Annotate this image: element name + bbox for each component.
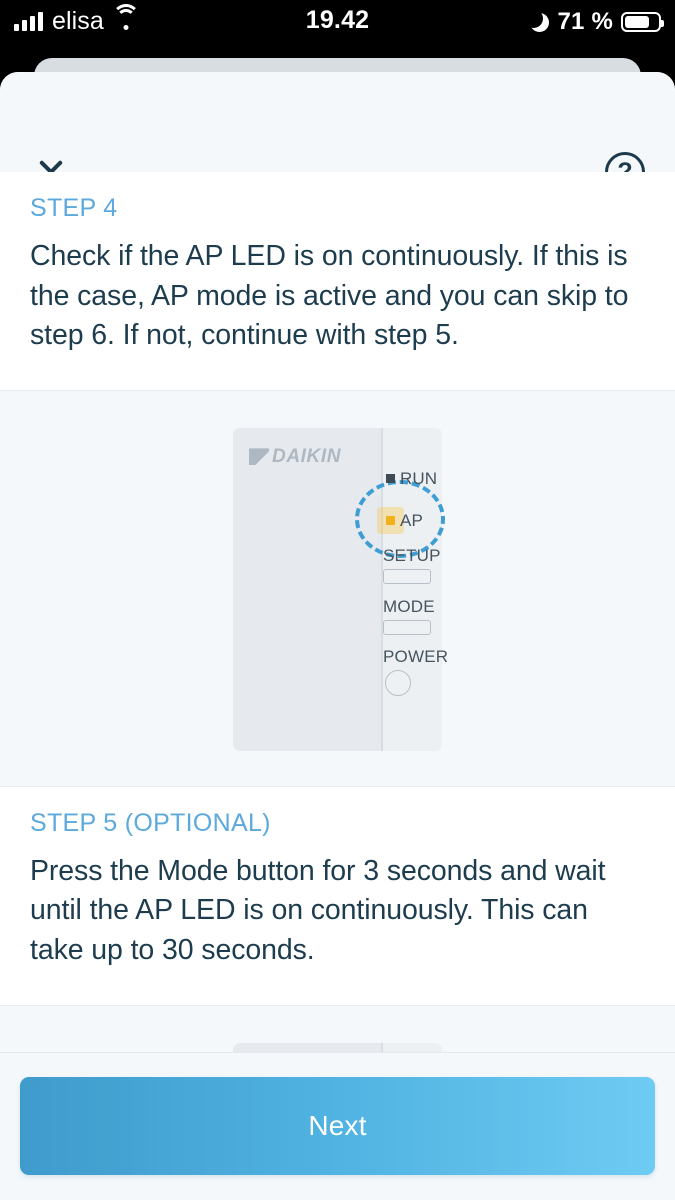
status-bar: elisa 19.42 71 % (0, 0, 675, 52)
device-panel-divider (381, 428, 383, 751)
next-button[interactable]: Next (20, 1077, 655, 1175)
sheet-header: ? (0, 72, 675, 172)
setup-label: SETUP (383, 546, 441, 566)
step-section-4: STEP 4 Check if the AP LED is on continu… (0, 172, 675, 391)
device-control-power: POWER (383, 647, 448, 696)
daikin-device-illustration: DAIKIN RUN AP SETUP (233, 428, 442, 751)
sheet-content[interactable]: STEP 4 Check if the AP LED is on continu… (0, 172, 675, 1200)
device-control-mode: MODE (383, 597, 435, 635)
power-label: POWER (383, 647, 448, 667)
status-bar-right: 71 % (530, 8, 661, 36)
setup-button-icon (383, 569, 431, 584)
led-ap: AP (386, 511, 423, 531)
daikin-logo-icon: DAIKIN (249, 446, 341, 468)
ap-led-indicator-icon (386, 516, 395, 525)
instruction-sheet: ? STEP 4 Check if the AP LED is on conti… (0, 72, 675, 1200)
step-label: STEP 4 (30, 194, 645, 223)
run-led-label: RUN (400, 469, 437, 489)
ap-led-label: AP (400, 511, 423, 531)
mode-label: MODE (383, 597, 435, 617)
battery-icon (621, 12, 661, 32)
led-run: RUN (386, 469, 437, 489)
device-illustration-section: DAIKIN RUN AP SETUP (0, 391, 675, 787)
mode-button-icon (383, 620, 431, 635)
daikin-wordmark: DAIKIN (272, 446, 341, 468)
do-not-disturb-moon-icon (530, 13, 549, 32)
device-control-setup: SETUP (383, 546, 441, 584)
power-button-icon (385, 670, 411, 696)
step-label: STEP 5 (OPTIONAL) (30, 809, 645, 838)
step-section-5: STEP 5 (OPTIONAL) Press the Mode button … (0, 787, 675, 1006)
daikin-mark-icon (249, 448, 269, 465)
battery-percent-label: 71 % (557, 8, 613, 36)
step-body: Check if the AP LED is on continuously. … (30, 237, 645, 356)
run-led-indicator-icon (386, 474, 395, 483)
phone-screen: elisa 19.42 71 % ? STEP 4 Check if the A… (0, 0, 675, 1200)
sheet-footer: Next (0, 1052, 675, 1200)
step-body: Press the Mode button for 3 seconds and … (30, 852, 645, 971)
